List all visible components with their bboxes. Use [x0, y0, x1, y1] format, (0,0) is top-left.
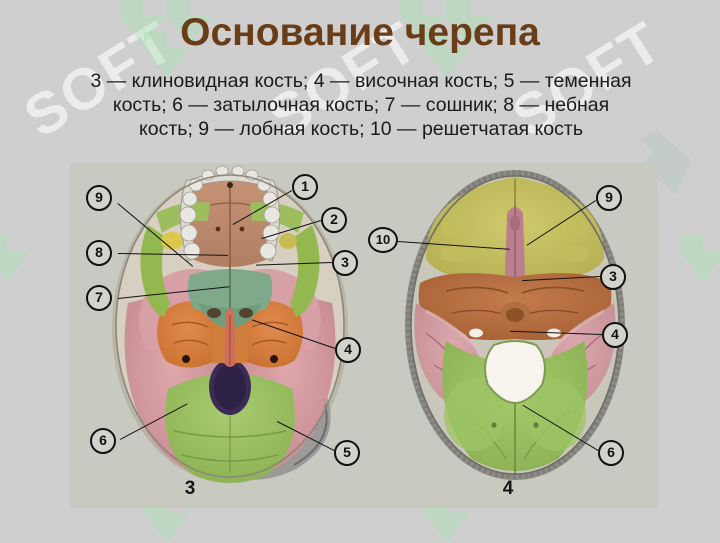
callout-marker-3[interactable]: 3 [600, 264, 626, 290]
callout-marker-9[interactable]: 9 [596, 185, 622, 211]
anatomy-figure-panel: 9 8 7 6 1 2 3 4 5 10 9 3 4 6 3 4 [70, 163, 658, 508]
legend-caption: 3 — клиновидная кость; 4 — височная кост… [22, 69, 700, 141]
callout-marker-9[interactable]: 9 [86, 185, 112, 211]
caption-line-1: 3 — клиновидная кость; 4 — височная кост… [22, 69, 700, 93]
figure-number-right: 4 [488, 478, 528, 500]
callout-marker-4[interactable]: 4 [335, 337, 361, 363]
caption-line-3: кость; 9 — лобная кость; 10 — решетчатая… [22, 117, 700, 141]
callout-marker-7[interactable]: 7 [86, 285, 112, 311]
callout-marker-8[interactable]: 8 [86, 240, 112, 266]
watermark-arrow-icon [680, 236, 720, 282]
callout-marker-1[interactable]: 1 [292, 174, 318, 200]
callout-marker-2[interactable]: 2 [321, 207, 347, 233]
page-title: Основание черепа [0, 11, 720, 55]
callout-marker-6[interactable]: 6 [90, 428, 116, 454]
callout-marker-10[interactable]: 10 [368, 227, 398, 253]
callout-marker-4[interactable]: 4 [602, 322, 628, 348]
callout-marker-5[interactable]: 5 [334, 440, 360, 466]
callout-marker-3[interactable]: 3 [332, 250, 358, 276]
figure-number-left: 3 [170, 478, 210, 500]
caption-line-2: кость; 6 — затылочная кость; 7 — сошник;… [22, 93, 700, 117]
callout-marker-6[interactable]: 6 [598, 440, 624, 466]
watermark-arrow-icon [0, 236, 30, 282]
skull-figure-internal-base [390, 163, 640, 483]
